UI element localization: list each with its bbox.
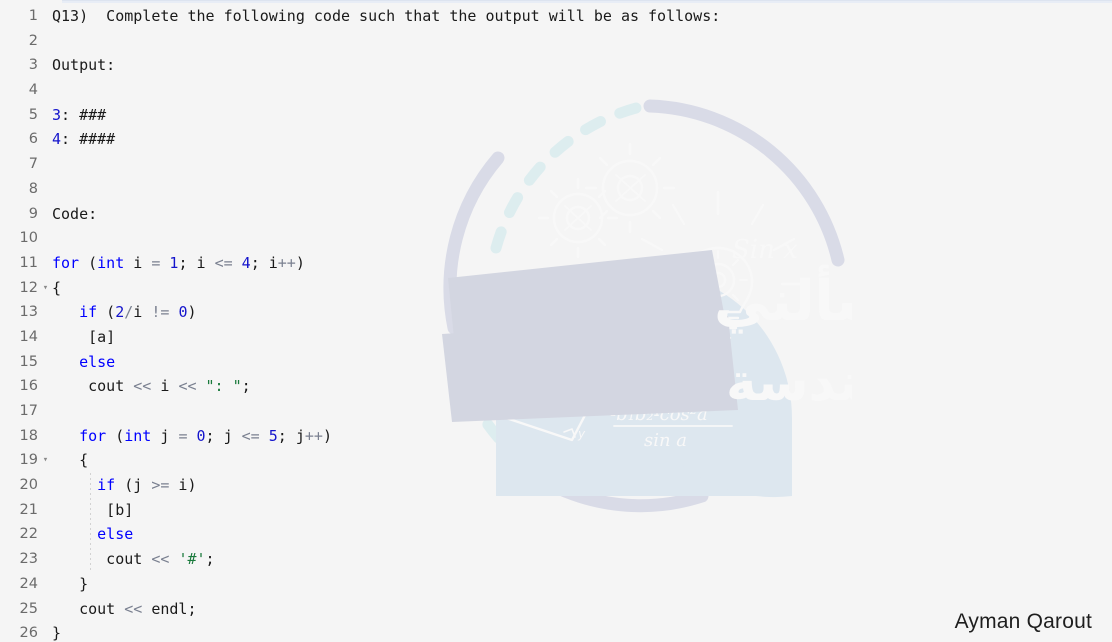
token-pl: ( <box>106 427 124 445</box>
line-number: 8 <box>0 177 38 202</box>
editor-line[interactable]: 7 <box>0 152 1112 177</box>
token-pl: ; i <box>178 254 214 272</box>
line-content: Code: <box>52 202 97 227</box>
token-pl: Q13) Complete the following code such th… <box>52 7 720 25</box>
token-num: 2 <box>115 303 124 321</box>
token-num: 3 <box>52 106 61 124</box>
token-op: >= <box>151 476 169 494</box>
token-str: ": " <box>206 377 242 395</box>
line-number: 16 <box>0 374 38 399</box>
token-op: <= <box>242 427 260 445</box>
token-op: ++ <box>278 254 296 272</box>
editor-line[interactable]: 12▾{ <box>0 276 1112 301</box>
editor-line[interactable]: 15 else <box>0 350 1112 375</box>
line-content: else <box>52 522 133 547</box>
token-kw: int <box>124 427 151 445</box>
token-pl: Code: <box>52 205 97 223</box>
line-content: } <box>52 621 61 642</box>
line-content: [b] <box>52 498 133 523</box>
editor-line[interactable]: 22 else <box>0 522 1112 547</box>
token-pl: ) <box>323 427 332 445</box>
editor-line[interactable]: 3Output: <box>0 53 1112 78</box>
token-pl: { <box>52 451 88 469</box>
editor-line[interactable]: 16 cout << i << ": "; <box>0 374 1112 399</box>
line-number: 5 <box>0 103 38 128</box>
token-pl <box>260 427 269 445</box>
token-pl: : ### <box>61 106 106 124</box>
token-kw: if <box>97 476 115 494</box>
editor-line[interactable]: 19▾ { <box>0 448 1112 473</box>
line-number: 23 <box>0 547 38 572</box>
editor-line[interactable]: 64: #### <box>0 127 1112 152</box>
editor-line[interactable]: 20 if (j >= i) <box>0 473 1112 498</box>
line-content: cout << i << ": "; <box>52 374 251 399</box>
editor-line[interactable]: 14 [a] <box>0 325 1112 350</box>
token-op: << <box>124 600 142 618</box>
line-content: for (int i = 1; i <= 4; i++) <box>52 251 305 276</box>
token-pl: (j <box>115 476 151 494</box>
line-content: cout << endl; <box>52 597 197 622</box>
token-num: 4 <box>242 254 251 272</box>
token-pl: } <box>52 624 61 642</box>
token-num: 0 <box>197 427 206 445</box>
token-pl: j <box>151 427 178 445</box>
token-op: << <box>151 550 169 568</box>
token-pl: ( <box>79 254 97 272</box>
line-number: 1 <box>0 4 38 29</box>
line-number: 21 <box>0 498 38 523</box>
token-kw: for <box>79 427 106 445</box>
token-num: 4 <box>52 130 61 148</box>
token-pl <box>52 427 79 445</box>
line-content: if (2/i != 0) <box>52 300 197 325</box>
line-number: 22 <box>0 522 38 547</box>
line-number: 24 <box>0 572 38 597</box>
token-pl <box>197 377 206 395</box>
editor-line[interactable]: 23 cout << '#'; <box>0 547 1112 572</box>
top-highlight-strip <box>62 0 1112 3</box>
line-content: Output: <box>52 53 115 78</box>
token-pl <box>233 254 242 272</box>
line-number: 7 <box>0 152 38 177</box>
line-number: 20 <box>0 473 38 498</box>
token-pl: cout <box>52 600 124 618</box>
line-number: 4 <box>0 78 38 103</box>
token-pl: [a] <box>52 328 115 346</box>
fold-toggle-icon[interactable]: ▾ <box>41 448 50 473</box>
line-number: 11 <box>0 251 38 276</box>
token-pl <box>52 353 79 371</box>
line-content: 4: #### <box>52 127 115 152</box>
token-pl: ( <box>97 303 115 321</box>
token-pl: { <box>52 279 61 297</box>
token-op: / <box>124 303 133 321</box>
token-pl: Output: <box>52 56 115 74</box>
token-op: != <box>151 303 169 321</box>
editor-line[interactable]: 8 <box>0 177 1112 202</box>
token-pl: ) <box>296 254 305 272</box>
editor-line[interactable]: 1Q13) Complete the following code such t… <box>0 4 1112 29</box>
editor-line[interactable]: 26} <box>0 621 1112 642</box>
token-pl: : #### <box>61 130 115 148</box>
screenshot-root: 10001010 01010001 10001010 <box>0 0 1112 642</box>
fold-toggle-icon[interactable]: ▾ <box>41 276 50 301</box>
token-pl <box>187 427 196 445</box>
token-pl: ; j <box>206 427 242 445</box>
token-op: ++ <box>305 427 323 445</box>
line-number: 10 <box>0 226 38 251</box>
line-content: for (int j = 0; j <= 5; j++) <box>52 424 332 449</box>
line-content: [a] <box>52 325 115 350</box>
line-number: 25 <box>0 597 38 622</box>
line-number: 12 <box>0 276 38 301</box>
line-content: Q13) Complete the following code such th… <box>52 4 720 29</box>
line-number: 2 <box>0 29 38 54</box>
token-pl: i <box>124 254 151 272</box>
editor-line[interactable]: 13 if (2/i != 0) <box>0 300 1112 325</box>
token-kw: for <box>52 254 79 272</box>
token-pl: i) <box>169 476 196 494</box>
line-content: if (j >= i) <box>52 473 197 498</box>
editor-line[interactable]: 2 <box>0 29 1112 54</box>
indent-guide <box>90 473 91 572</box>
editor-line[interactable]: 11for (int i = 1; i <= 4; i++) <box>0 251 1112 276</box>
editor-line[interactable]: 25 cout << endl; <box>0 597 1112 622</box>
token-pl: ; i <box>251 254 278 272</box>
token-op: << <box>178 377 196 395</box>
editor-line[interactable]: 4 <box>0 78 1112 103</box>
token-pl: endl; <box>142 600 196 618</box>
token-kw: if <box>79 303 97 321</box>
editor-line[interactable]: 18 for (int j = 0; j <= 5; j++) <box>0 424 1112 449</box>
token-pl: cout <box>52 377 133 395</box>
line-number: 19 <box>0 448 38 473</box>
line-number: 15 <box>0 350 38 375</box>
token-pl <box>52 303 79 321</box>
line-number: 18 <box>0 424 38 449</box>
line-number: 14 <box>0 325 38 350</box>
token-kw: else <box>79 353 115 371</box>
line-number: 6 <box>0 127 38 152</box>
token-pl: ) <box>187 303 196 321</box>
line-number: 3 <box>0 53 38 78</box>
line-content: else <box>52 350 115 375</box>
token-op: << <box>133 377 151 395</box>
token-op: <= <box>215 254 233 272</box>
editor-line[interactable]: 17 <box>0 399 1112 424</box>
token-str: '#' <box>178 550 205 568</box>
code-editor[interactable]: 1Q13) Complete the following code such t… <box>0 4 1112 642</box>
token-pl: ; j <box>278 427 305 445</box>
line-content: cout << '#'; <box>52 547 215 572</box>
token-pl: ; <box>242 377 251 395</box>
editor-line[interactable]: 21 [b] <box>0 498 1112 523</box>
token-pl: i <box>133 303 151 321</box>
token-pl: i <box>151 377 178 395</box>
token-kw: int <box>97 254 124 272</box>
token-pl: } <box>52 575 88 593</box>
token-pl: ; <box>206 550 215 568</box>
editor-line[interactable]: 53: ### <box>0 103 1112 128</box>
editor-line[interactable]: 10 <box>0 226 1112 251</box>
token-pl: [b] <box>52 501 133 519</box>
line-content: { <box>52 448 88 473</box>
token-pl: cout <box>52 550 151 568</box>
line-number: 13 <box>0 300 38 325</box>
line-number: 9 <box>0 202 38 227</box>
line-content: 3: ### <box>52 103 106 128</box>
line-number: 26 <box>0 621 38 642</box>
line-content: { <box>52 276 61 301</box>
editor-line[interactable]: 9Code: <box>0 202 1112 227</box>
line-number: 17 <box>0 399 38 424</box>
line-content: } <box>52 572 88 597</box>
token-num: 5 <box>269 427 278 445</box>
editor-line[interactable]: 24 } <box>0 572 1112 597</box>
token-kw: else <box>97 525 133 543</box>
